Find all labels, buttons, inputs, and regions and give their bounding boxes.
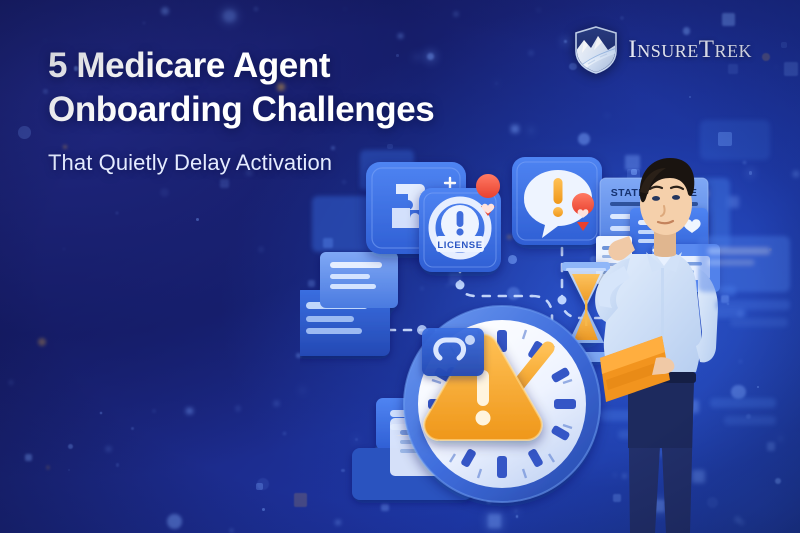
background-particle [116, 212, 118, 214]
background-particle [257, 478, 269, 490]
link-card [422, 328, 484, 376]
background-particle [160, 188, 169, 197]
background-particle [100, 412, 102, 414]
headline-line-1: 5 Medicare Agent [48, 46, 330, 85]
headline-line-2: Onboarding Challenges [48, 90, 434, 129]
background-particle [196, 218, 199, 221]
background-particle [68, 444, 73, 449]
background-particle [223, 10, 236, 23]
background-particle [44, 39, 47, 42]
license-badge-card: LICENSE [419, 174, 501, 272]
background-particle [283, 432, 286, 435]
background-particle [38, 338, 47, 347]
background-particle [143, 22, 146, 25]
background-particle [167, 514, 182, 529]
brand-logo[interactable]: InsureTrek [574, 26, 752, 74]
background-particle [262, 508, 266, 512]
background-particle [220, 179, 229, 188]
background-particle [63, 248, 65, 250]
background-particle [18, 126, 31, 139]
background-particle [68, 469, 71, 472]
background-particle [10, 381, 12, 383]
background-particle [236, 406, 240, 410]
background-particle [260, 248, 262, 250]
background-right-panels [698, 120, 790, 425]
background-particle [186, 408, 193, 415]
page-title: 5 Medicare Agent Onboarding Challenges [48, 44, 518, 132]
background-particle [47, 466, 49, 468]
background-particle [131, 427, 134, 430]
shield-mountain-trail-icon [574, 26, 618, 74]
background-particle [161, 7, 169, 15]
background-particle [230, 529, 233, 532]
background-particle [153, 410, 156, 413]
background-particle [274, 401, 279, 406]
brand-name: InsureTrek [628, 36, 752, 64]
hero-banner: LICENSE [0, 0, 800, 533]
background-particle [106, 447, 111, 452]
hero-copy: 5 Medicare Agent Onboarding Challenges T… [48, 44, 518, 178]
page-subtitle: That Quietly Delay Activation [48, 148, 518, 178]
background-particle [116, 463, 120, 467]
background-particle [25, 454, 33, 462]
background-particle [254, 7, 258, 11]
svg-text:LICENSE: LICENSE [437, 240, 482, 251]
alert-message-card [512, 157, 602, 245]
